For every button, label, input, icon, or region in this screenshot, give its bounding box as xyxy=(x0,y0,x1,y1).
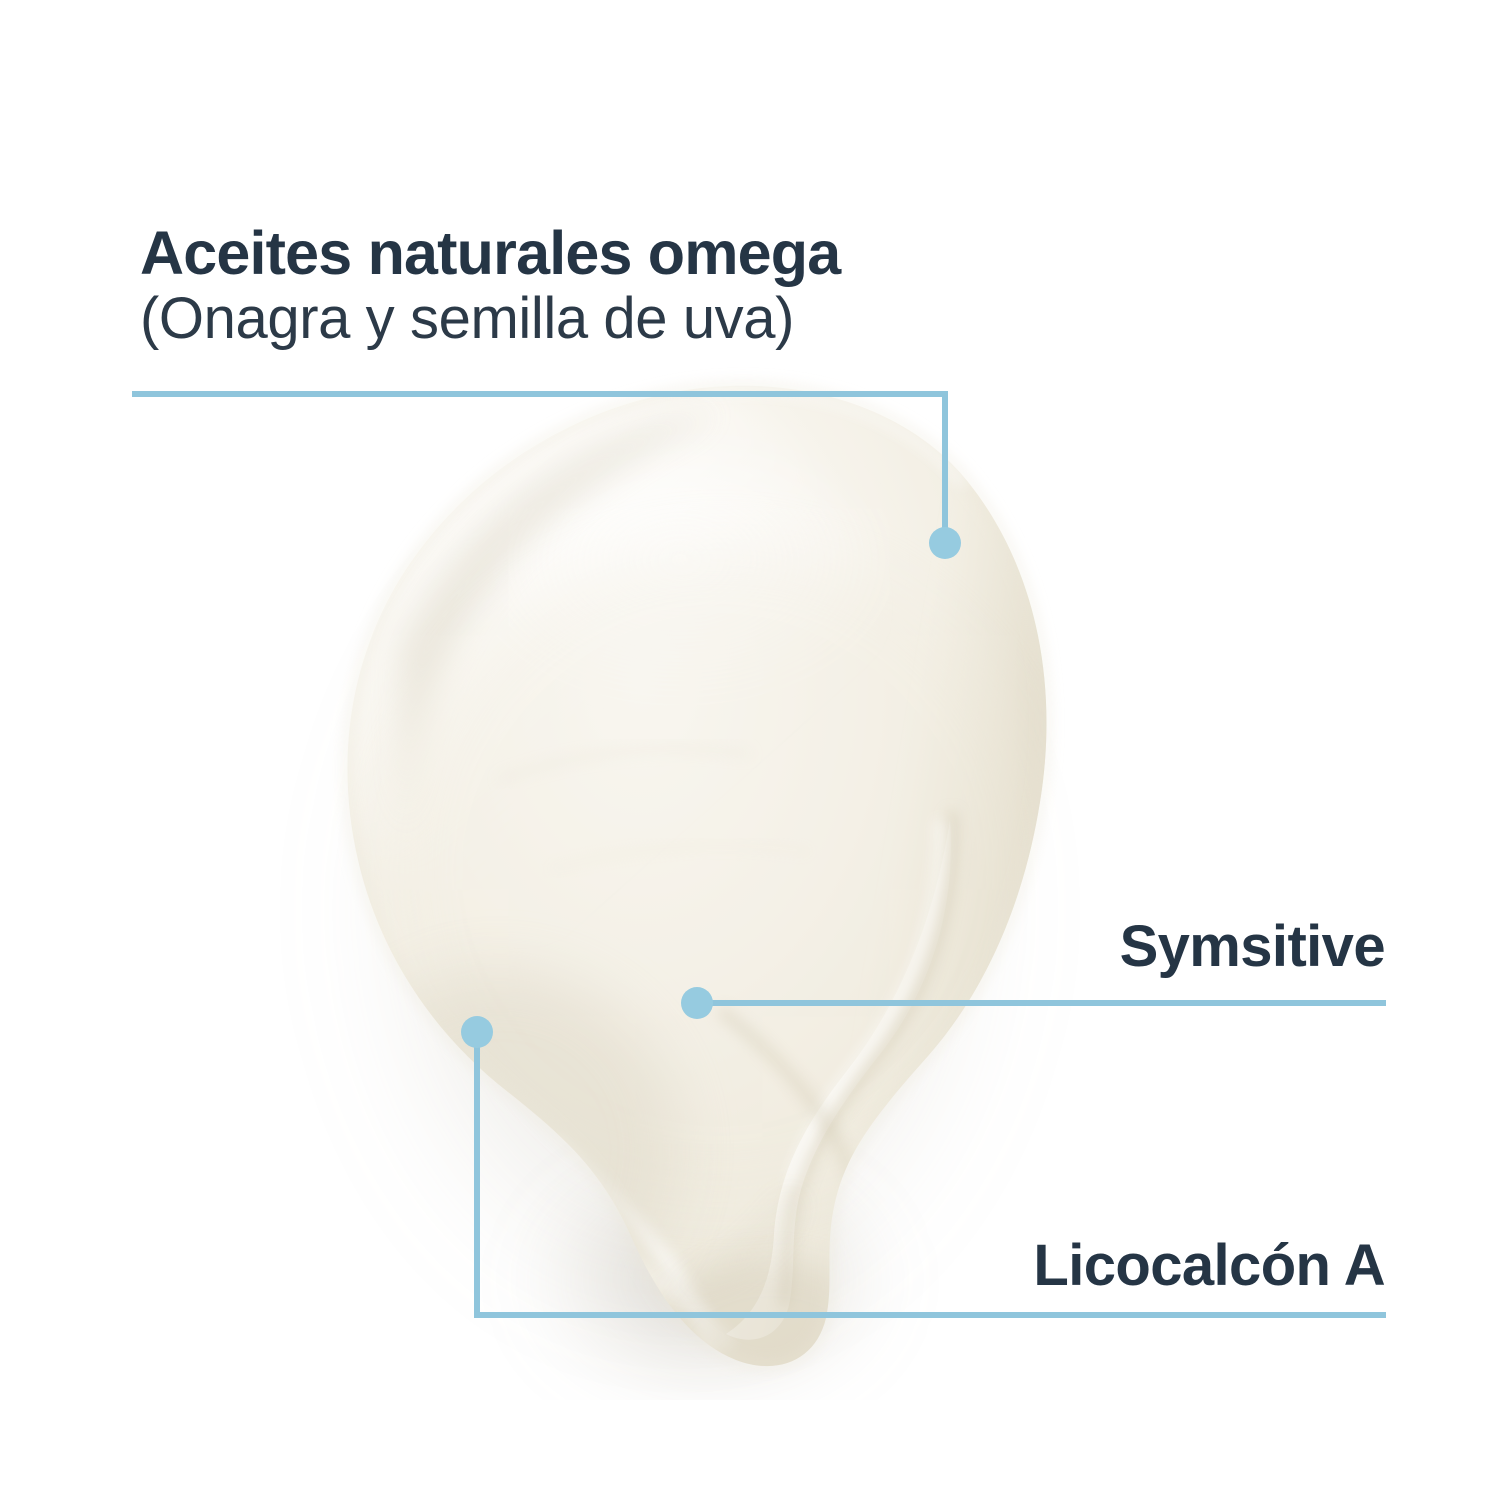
infographic-canvas: Aceites naturales omega (Onagra y semill… xyxy=(0,0,1500,1500)
label-licocalcon: Licocalcón A xyxy=(1033,1232,1385,1299)
callout-dot-aceites xyxy=(929,527,961,559)
callout-dot-symsitive xyxy=(681,987,713,1019)
callout-dot-licocalcon xyxy=(461,1016,493,1048)
connector-line-aceites xyxy=(135,394,945,540)
label-symsitive: Symsitive xyxy=(1120,913,1385,980)
